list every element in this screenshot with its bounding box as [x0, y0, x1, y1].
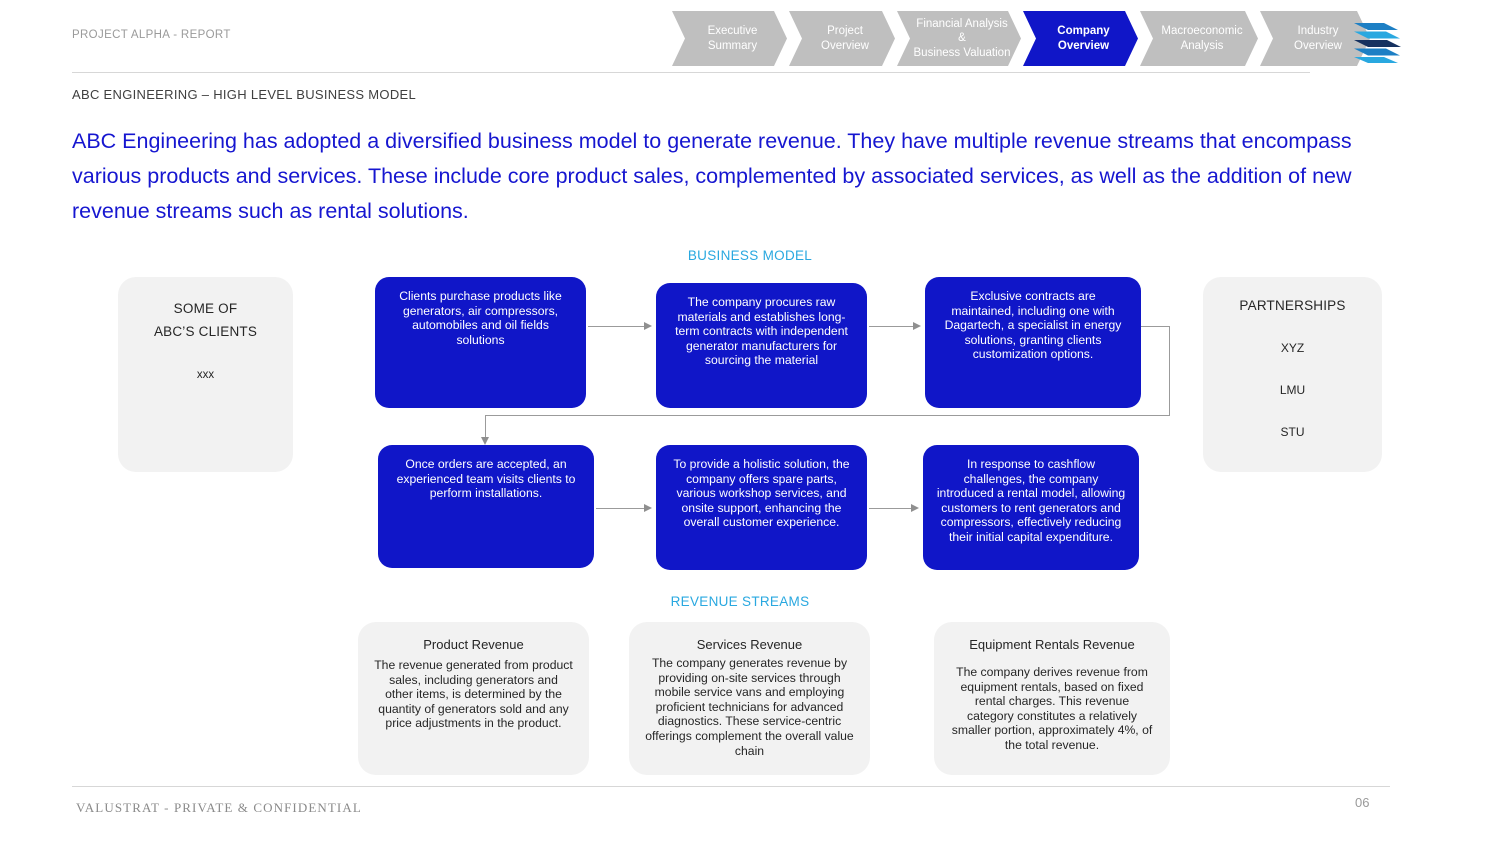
- process-step-text: Clients purchase products like generator…: [399, 289, 562, 347]
- nav-item-financial-analysis[interactable]: Financial Analysis&Business Valuation: [897, 11, 1021, 66]
- partnerships-title: PARTNERSHIPS: [1203, 277, 1382, 313]
- page-number: 06: [1355, 795, 1369, 810]
- clients-panel-line1: SOME OF: [118, 277, 293, 320]
- process-step-6: In response to cashflow challenges, the …: [923, 445, 1139, 570]
- revenue-card-title: Product Revenue: [374, 636, 573, 654]
- process-step-1: Clients purchase products like generator…: [375, 277, 586, 408]
- partnership-item-xyz: XYZ: [1203, 341, 1382, 355]
- process-step-text: The company procures raw materials and e…: [675, 295, 848, 367]
- page-title: ABC ENGINEERING – HIGH LEVEL BUSINESS MO…: [72, 87, 416, 102]
- revenue-card-title: Services Revenue: [645, 636, 854, 654]
- nav-item-label: CompanyOverview: [1057, 24, 1109, 53]
- nav-item-label: IndustryOverview: [1294, 24, 1342, 53]
- connector-step3-step4-seg2: [1169, 326, 1170, 416]
- arrow-down-icon: [481, 437, 489, 445]
- partnership-item-stu: STU: [1203, 425, 1382, 439]
- confidentiality-notice: VALUSTRAT - PRIVATE & CONFIDENTIAL: [76, 800, 362, 816]
- clients-panel-placeholder: xxx: [118, 369, 293, 381]
- nav-item-executive-summary[interactable]: ExecutiveSummary: [672, 11, 787, 66]
- partnerships-panel: PARTNERSHIPS XYZ LMU STU: [1203, 277, 1382, 472]
- process-step-text: To provide a holistic solution, the comp…: [673, 457, 849, 529]
- footer-divider: [72, 786, 1390, 787]
- header-divider: [72, 72, 1310, 73]
- process-step-2: The company procures raw materials and e…: [656, 283, 867, 408]
- partnership-item-lmu: LMU: [1203, 383, 1382, 397]
- arrow-right-icon: [913, 322, 921, 330]
- nav-item-company-overview[interactable]: CompanyOverview: [1023, 11, 1138, 66]
- connector-step3-step4-seg3: [485, 415, 1170, 416]
- connector-step5-step6: [869, 508, 911, 509]
- nav-item-label: ExecutiveSummary: [708, 24, 758, 53]
- revenue-card-body: The company derives revenue from equipme…: [950, 665, 1154, 753]
- revenue-card-equipment-rentals: Equipment Rentals Revenue The company de…: [934, 622, 1170, 775]
- connector-step1-step2: [588, 326, 644, 327]
- arrow-right-icon: [911, 504, 919, 512]
- revenue-streams-label: REVENUE STREAMS: [640, 594, 840, 609]
- document-label: PROJECT ALPHA - REPORT: [72, 29, 231, 41]
- clients-panel-line2: ABC’S CLIENTS: [118, 320, 293, 343]
- process-step-5: To provide a holistic solution, the comp…: [656, 445, 867, 570]
- process-step-text: Exclusive contracts are maintained, incl…: [945, 289, 1122, 361]
- arrow-right-icon: [644, 322, 652, 330]
- slide-canvas: PROJECT ALPHA - REPORT ExecutiveSummary …: [0, 0, 1500, 844]
- process-step-text: Once orders are accepted, an experienced…: [397, 457, 576, 500]
- intro-paragraph: ABC Engineering has adopted a diversifie…: [72, 124, 1387, 229]
- nav-item-macroeconomic-analysis[interactable]: MacroeconomicAnalysis: [1140, 11, 1258, 66]
- nav-item-project-overview[interactable]: ProjectOverview: [789, 11, 895, 66]
- nav-item-label: Financial Analysis&Business Valuation: [914, 17, 1011, 61]
- connector-step3-step4-seg4: [485, 415, 486, 439]
- revenue-card-product: Product Revenue The revenue generated fr…: [358, 622, 589, 775]
- business-model-label: BUSINESS MODEL: [650, 248, 850, 263]
- revenue-card-title: Equipment Rentals Revenue: [950, 636, 1154, 654]
- process-step-3: Exclusive contracts are maintained, incl…: [925, 277, 1141, 408]
- section-nav[interactable]: ExecutiveSummary ProjectOverview Financi…: [672, 11, 1372, 66]
- valustrat-chevron-logo-icon: [1354, 22, 1408, 64]
- nav-item-label: MacroeconomicAnalysis: [1161, 24, 1242, 53]
- process-step-text: In response to cashflow challenges, the …: [937, 457, 1125, 544]
- revenue-card-body: The company generates revenue by providi…: [645, 656, 854, 758]
- connector-step2-step3: [869, 326, 913, 327]
- process-step-4: Once orders are accepted, an experienced…: [378, 445, 594, 568]
- connector-step3-step4-seg1: [1141, 326, 1170, 327]
- connector-step4-step5: [596, 508, 644, 509]
- nav-item-label: ProjectOverview: [821, 24, 869, 53]
- arrow-right-icon: [644, 504, 652, 512]
- revenue-card-body: The revenue generated from product sales…: [374, 658, 573, 731]
- clients-panel: SOME OF ABC’S CLIENTS xxx: [118, 277, 293, 472]
- revenue-card-services: Services Revenue The company generates r…: [629, 622, 870, 775]
